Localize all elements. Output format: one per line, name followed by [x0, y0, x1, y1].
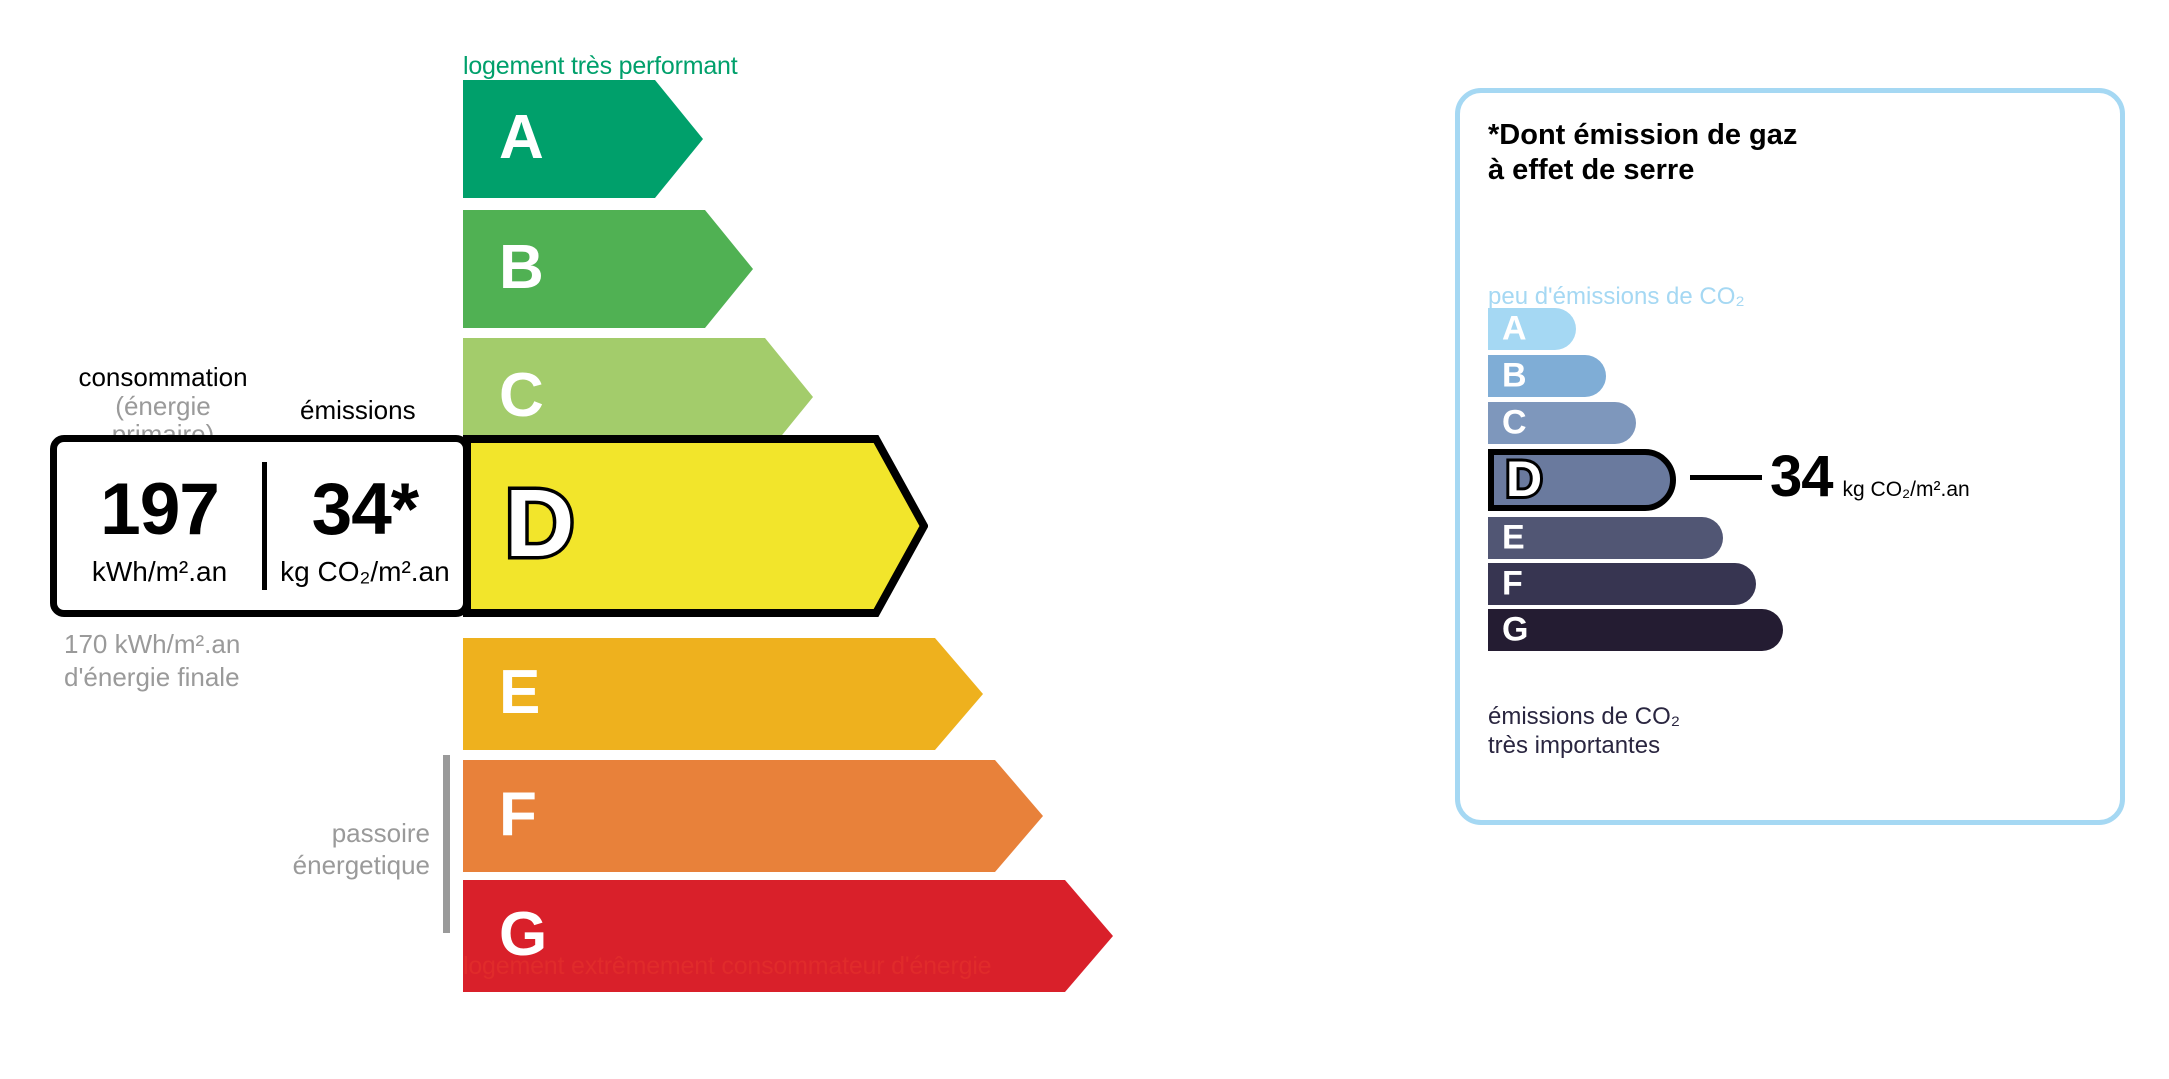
final-energy-line2: d'énergie finale — [64, 661, 240, 694]
ghg-title-line2: à effet de serre — [1488, 153, 1797, 188]
energy-class-letter-e: E — [499, 662, 540, 724]
ghg-class-letter-c: C — [1502, 405, 1527, 439]
ghg-class-letter-g: G — [1502, 612, 1528, 646]
energy-class-arrow-d: D — [463, 435, 928, 617]
final-energy-label: 170 kWh/m².an d'énergie finale — [64, 628, 240, 693]
energy-class-letter-c: C — [499, 365, 544, 427]
consumption-label-main: consommation — [63, 363, 263, 392]
energy-class-arrow-f: F — [463, 760, 1043, 872]
callout-leader-line — [1690, 475, 1762, 480]
ghg-class-letter-b: B — [1502, 358, 1527, 392]
ghg-bar-shape-a: A — [1488, 308, 1576, 350]
ghg-class-bar-f: F — [1488, 563, 1756, 605]
arrow-shape-a: A — [463, 80, 703, 198]
arrow-shape-e: E — [463, 638, 983, 750]
thermal-sieve-line1: passoire — [250, 818, 430, 850]
energy-performance-diagram: logement très performant ABCDEFG consomm… — [0, 0, 1400, 1079]
ghg-class-letter-f: F — [1502, 566, 1523, 600]
emissions-label: émissions — [300, 395, 416, 426]
energy-class-letter-a: A — [499, 107, 544, 169]
ghg-class-bar-b: B — [1488, 355, 1606, 397]
ghg-class-bar-a: A — [1488, 308, 1576, 350]
ghg-top-caption: peu d'émissions de CO₂ — [1488, 283, 1745, 311]
ghg-class-bar-e: E — [1488, 517, 1723, 559]
ghg-bar-shape-g: G — [1488, 609, 1783, 651]
scale-top-caption: logement très performant — [463, 52, 738, 81]
final-energy-line1: 170 kWh/m².an — [64, 628, 240, 661]
arrow-shape-b: B — [463, 210, 753, 328]
ghg-bar-shape-b: B — [1488, 355, 1606, 397]
thermal-sieve-marker — [443, 755, 450, 933]
emission-value-cell: 34* kg CO₂/m².an — [267, 442, 463, 610]
ghg-title-line1: *Dont émission de gaz — [1488, 118, 1797, 153]
thermal-sieve-line2: énergetique — [250, 850, 430, 882]
ghg-value-callout: 34 kg CO₂/m².an — [1690, 448, 1970, 506]
ghg-bar-shape-c: C — [1488, 402, 1636, 444]
ghg-emissions-panel: *Dont émission de gaz à effet de serre p… — [1455, 88, 2125, 825]
emission-unit: kg CO₂/m².an — [280, 556, 450, 588]
thermal-sieve-label: passoire énergetique — [250, 818, 430, 881]
energy-class-arrow-e: E — [463, 638, 983, 750]
ghg-value-unit: kg CO₂/m².an — [1843, 478, 1970, 502]
energy-class-arrow-b: B — [463, 210, 753, 328]
ghg-class-bar-d: D — [1488, 449, 1676, 511]
arrow-shape-d: D — [463, 435, 928, 617]
energy-class-letter-f: F — [499, 784, 537, 846]
ghg-bar-shape-f: F — [1488, 563, 1756, 605]
ghg-bottom-line1: émissions de CO₂ — [1488, 703, 1680, 732]
energy-class-letter-d: D — [505, 476, 574, 572]
ghg-value: 34 — [1770, 448, 1833, 506]
value-box: 197 kWh/m².an 34* kg CO₂/m².an — [50, 435, 470, 617]
ghg-bottom-caption: émissions de CO₂ très importantes — [1488, 703, 1680, 761]
arrow-shape-f: F — [463, 760, 1043, 872]
ghg-class-letter-d: D — [1506, 454, 1542, 504]
consumption-unit: kWh/m².an — [92, 556, 227, 588]
consumption-value-cell: 197 kWh/m².an — [57, 442, 262, 610]
energy-class-letter-b: B — [499, 237, 544, 299]
ghg-bar-shape-e: E — [1488, 517, 1723, 559]
energy-class-arrow-a: A — [463, 80, 703, 198]
ghg-class-letter-a: A — [1502, 311, 1527, 345]
ghg-bottom-line2: très importantes — [1488, 732, 1680, 761]
consumption-value: 197 — [100, 473, 219, 546]
emission-value: 34* — [312, 473, 419, 546]
ghg-class-letter-e: E — [1502, 520, 1525, 554]
ghg-panel-title: *Dont émission de gaz à effet de serre — [1488, 118, 1797, 189]
scale-bottom-caption: logement extrêmement consommateur d'éner… — [463, 952, 991, 981]
ghg-bar-shape-d: D — [1488, 449, 1676, 511]
ghg-class-bar-c: C — [1488, 402, 1636, 444]
ghg-class-bar-g: G — [1488, 609, 1783, 651]
